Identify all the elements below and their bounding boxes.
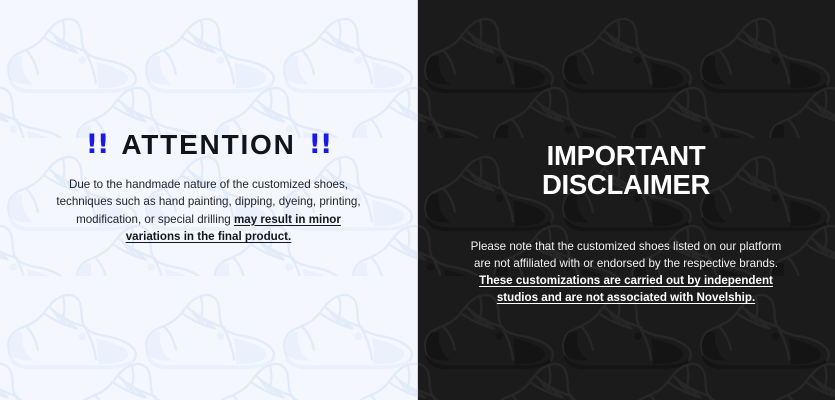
attention-title: ATTENTION — [121, 131, 295, 159]
exclamation-right-icon: !! — [309, 131, 332, 158]
disclaimer-heading: IMPORTANT DISCLAIMER — [542, 141, 710, 199]
disclaimer-title-line1: IMPORTANT — [542, 141, 710, 170]
attention-heading: !! ATTENTION !! — [86, 131, 332, 159]
disclaimer-banner: !! ATTENTION !! Due to the handmade natu… — [0, 0, 835, 400]
exclamation-left-icon: !! — [86, 131, 109, 158]
disclaimer-body: Please note that the customized shoes li… — [467, 238, 785, 307]
disclaimer-body-plain: Please note that the customized shoes li… — [471, 240, 782, 270]
disclaimer-body-emphasis: These customizations are carried out by … — [479, 274, 773, 304]
disclaimer-title-line2: DISCLAIMER — [542, 170, 710, 199]
panel-divider — [417, 0, 418, 400]
disclaimer-panel: IMPORTANT DISCLAIMER Please note that th… — [417, 0, 835, 400]
attention-body: Due to the handmade nature of the custom… — [56, 176, 362, 246]
attention-panel: !! ATTENTION !! Due to the handmade natu… — [0, 0, 417, 400]
